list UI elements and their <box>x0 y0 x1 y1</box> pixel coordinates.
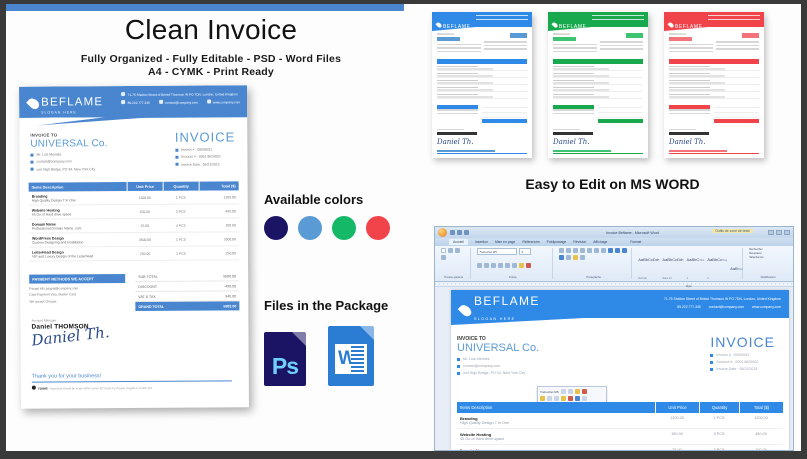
replace-button[interactable]: Remplacer <box>749 252 787 255</box>
phone-text: 89.222.777.345 <box>128 101 150 105</box>
swatch-red[interactable] <box>366 216 390 240</box>
color-variant-thumbnails: BEFLAMESLOGAN HERE Daniel Th. BEFLAMESLO… <box>432 12 764 158</box>
subtitle-line-1: Fully Organized - Fully Editable - PSD -… <box>6 53 416 65</box>
tab-references[interactable]: Références <box>522 240 539 244</box>
copy-icon <box>455 248 460 253</box>
justify-icon <box>559 255 564 260</box>
flame-drop-icon <box>667 21 674 28</box>
subtitle-line-2: A4 - CYMK - Print Ready <box>6 66 416 78</box>
word-file-icon[interactable]: W <box>328 326 374 386</box>
shading-icon <box>573 255 578 260</box>
tab-affichage[interactable]: Affichage <box>593 240 607 244</box>
location-pin-icon <box>122 92 126 96</box>
client-line: contact@company.com <box>30 160 107 164</box>
font-name-box[interactable]: Trebuchet MS <box>477 248 517 255</box>
table-row: BrandingHigh Quality Design 7 In One1200… <box>29 190 239 205</box>
terms-text: Payments should be made within seven (07… <box>50 386 153 391</box>
align-right-icon <box>622 248 627 253</box>
group-styles[interactable]: AaBbCcDd¶ Normal AaBbCcDd¶ Sans int. AaB… <box>635 248 743 279</box>
quick-access-toolbar[interactable] <box>450 230 469 235</box>
superscript-icon <box>512 263 517 268</box>
word-lines-icon <box>351 346 364 372</box>
doc-table-row: Website Hosting45 Go of Hard drive space… <box>457 429 783 445</box>
payment-line: Card Payment Visa, Master Card <box>29 292 125 297</box>
email-text: contact@company.com <box>165 101 198 105</box>
document-page[interactable]: BEFLAME SLOGAN HERE 71-75 Shelton Street… <box>451 290 789 450</box>
invoice-to-label: INVOICE TO <box>30 132 107 137</box>
window-controls[interactable] <box>768 230 790 235</box>
page-title: Clean Invoice <box>6 14 416 46</box>
close-icon <box>784 230 790 235</box>
increase-indent-icon <box>587 248 592 253</box>
contact-block: 71-75 Shelton Street of Bristol Thomson … <box>122 90 241 107</box>
invoice-meta-line: Account # : 0001 8629002 <box>175 155 235 159</box>
sort-icon <box>594 248 599 253</box>
font-color-icon <box>568 396 573 401</box>
bullet-icon <box>30 153 33 156</box>
table-header-row: Items Description Unit Price Quantity To… <box>29 181 239 191</box>
photoshop-label: Ps <box>264 353 306 380</box>
col-total: Total ($) <box>199 181 239 190</box>
terms-block: TERMS Payments should be made within sev… <box>32 384 232 390</box>
font-color-icon <box>526 263 531 268</box>
ribbon[interactable]: Presse-papiers Trebuchet MS 9 Police Par… <box>435 246 793 282</box>
available-colors-heading: Available colors <box>264 192 363 207</box>
files-in-package-heading: Files in the Package <box>264 298 388 313</box>
show-marks-icon <box>601 248 606 253</box>
font-shrink-icon <box>568 389 573 394</box>
right-panel: BEFLAMESLOGAN HERE Daniel Th. BEFLAMESLO… <box>424 4 801 451</box>
website-text: www.company.com <box>752 303 781 311</box>
easy-to-edit-heading: Easy to Edit on MS WORD <box>424 176 801 192</box>
font-size-box[interactable]: 9 <box>519 248 531 255</box>
table-row: WordPress DesignCustom Designing and Ins… <box>29 232 239 247</box>
thanks-block: Thank you for your business! TERMS Payme… <box>32 372 232 390</box>
align-icon <box>575 396 580 401</box>
page-fold-icon <box>292 332 306 346</box>
line-spacing-icon <box>566 255 571 260</box>
bold-icon <box>540 396 545 401</box>
tab-revision[interactable]: Révision <box>573 240 586 244</box>
paste-icon <box>441 248 446 253</box>
invoice-header-band: BEFLAME SLOGAN HERE 71-75 Shelton Street… <box>19 85 247 118</box>
bullet-icon <box>30 160 33 163</box>
subscript-icon <box>505 263 510 268</box>
format-painter-icon <box>441 255 446 260</box>
style-item: AaBbCTitre 1 <box>687 248 705 284</box>
undo-icon <box>457 230 462 235</box>
invoice-meta-block: INVOICE Invoice # : 00090011 Account # :… <box>175 129 236 166</box>
signature-role: Account Manager <box>31 318 109 322</box>
bullet-icon <box>457 372 460 375</box>
payment-methods-header: PAYMENT METHODS WE ACCEPT <box>29 274 125 284</box>
align-left-icon <box>608 248 613 253</box>
variant-thumbnail-green[interactable]: BEFLAMESLOGAN HERE Daniel Th. <box>548 12 648 158</box>
word-glyph: W <box>335 344 367 374</box>
tab-publipostage[interactable]: Publipostage <box>547 240 567 244</box>
doc-table-header-row: Items Description Unit Price Quantity To… <box>457 402 783 413</box>
tab-mise-en-page[interactable]: Mise en page <box>495 240 515 244</box>
address-text: 71-75 Shelton Street of Bristol Thomson … <box>128 92 238 97</box>
horizontal-ruler[interactable] <box>435 282 793 287</box>
variant-thumbnail-red[interactable]: BEFLAMESLOGAN HERE Daniel Th. <box>664 12 764 158</box>
style-item: AaBbCcDd¶ Sans int. <box>662 248 683 284</box>
phone-icon <box>122 100 126 104</box>
group-paragraph[interactable]: Paragraphe <box>556 248 632 279</box>
photoshop-file-icon[interactable]: Ps <box>264 332 306 386</box>
italic-icon <box>547 396 552 401</box>
align-center-icon <box>615 248 620 253</box>
doc-line-items-table: Items Description Unit Price Quantity To… <box>457 402 783 450</box>
brand-logo: BEFLAME SLOGAN HERE <box>29 92 103 114</box>
contact-placeholder <box>592 15 644 23</box>
flame-drop-icon <box>435 21 442 28</box>
ribbon-tabs[interactable]: Accueil Insertion Mise en page Référence… <box>435 238 793 246</box>
invoice-preview-main: BEFLAME SLOGAN HERE 71-75 Shelton Street… <box>19 85 249 408</box>
ms-word-window[interactable]: Invoice Beflame - Microsoft Word Outils … <box>434 226 794 451</box>
group-editing[interactable]: Rechercher Remplacer Sélectionner Modifi… <box>746 248 790 279</box>
invoice-meta-line: Invoice Date : 05/21/2015 <box>175 162 235 166</box>
col-unit-price: Unit Price <box>127 182 163 191</box>
client-name: UNIVERSAL Co. <box>30 138 107 149</box>
tab-insertion[interactable]: Insertion <box>475 240 488 244</box>
thanks-text: Thank you for your business! <box>32 372 232 382</box>
bullet-icon <box>175 163 178 166</box>
doc-table-row: Domain NameProfessional Domain Name .com… <box>457 445 783 450</box>
totals-block: SUB TOTAL5500.00 DISCOUNT-490.00 VAT & T… <box>135 271 239 311</box>
globe-icon <box>207 100 211 104</box>
highlight-icon <box>519 263 524 268</box>
header-notch <box>19 117 156 127</box>
strikethrough-icon <box>498 263 503 268</box>
mini-font-name[interactable]: Trebuchet MS <box>540 390 559 394</box>
terms-label: TERMS <box>38 387 48 391</box>
contact-placeholder <box>476 15 528 23</box>
underline-icon <box>554 396 559 401</box>
bold-icon <box>477 263 482 268</box>
style-item: AaBbCcTitre 2 <box>707 248 727 284</box>
client-line: Mr. Luis Mendes <box>30 152 107 156</box>
variant-thumbnail-blue[interactable]: BEFLAMESLOGAN HERE Daniel Th. <box>432 12 532 158</box>
table-row: Website Hosting45 Go of Hard drive space… <box>29 204 239 219</box>
word-title-bar: Invoice Beflame - Microsoft Word Outils … <box>435 227 793 238</box>
font-grow-icon <box>561 389 566 394</box>
file-type-icons: Ps W <box>264 326 374 386</box>
highlight-icon <box>575 389 580 394</box>
client-line: unit High Bridge, PO 34, New York City <box>31 167 108 171</box>
mail-icon <box>159 100 163 104</box>
invoice-meta-line: Invoice # : 00090011 <box>175 148 235 152</box>
swatch-navy[interactable] <box>264 216 288 240</box>
redo-icon <box>464 230 469 235</box>
col-quantity: Quantity <box>163 182 199 191</box>
minimize-icon <box>768 230 774 235</box>
bullet-icon <box>175 156 178 159</box>
table-row: LetterHead DesignVIP and Luxury Design o… <box>29 246 239 261</box>
bullet-icon <box>710 361 713 364</box>
bullet-icon <box>31 168 34 171</box>
line-items-table: Items Description Unit Price Quantity To… <box>29 181 239 261</box>
bullet-icon <box>710 354 713 357</box>
numbering-icon <box>566 248 571 253</box>
doc-invoice-meta: INVOICE Invoice # : 00090011 Account # :… <box>710 334 775 371</box>
doc-contact-block: 71-75 Shelton Street of Bristol Thomson … <box>664 295 781 311</box>
info-icon <box>32 386 36 390</box>
style-item: AaBTitre <box>730 257 743 275</box>
address-text: 71-75 Shelton Street of Bristol Thomson … <box>664 295 781 303</box>
group-font[interactable]: Trebuchet MS 9 Police <box>474 248 554 279</box>
phone-text: 89.222.777.345 <box>677 303 701 311</box>
underline-icon <box>491 263 496 268</box>
payment-methods-block: PAYMENT METHODS WE ACCEPT Paypal info.pa… <box>29 274 125 303</box>
bullet-icon <box>175 148 178 151</box>
highlight-icon <box>561 396 566 401</box>
flame-drop-icon <box>551 21 558 28</box>
doc-table-row: BrandingHigh Quality Design 7 In One1200… <box>457 413 783 429</box>
color-swatches <box>264 216 390 240</box>
doc-header-band: BEFLAME SLOGAN HERE 71-75 Shelton Street… <box>451 290 789 318</box>
page-fold-icon <box>360 326 374 340</box>
maximize-icon <box>776 230 782 235</box>
decrease-indent-icon <box>580 248 585 253</box>
select-button[interactable]: Sélectionner <box>749 256 787 259</box>
group-clipboard[interactable]: Presse-papiers <box>438 248 471 279</box>
tab-accueil[interactable]: Accueil <box>449 239 468 245</box>
swatch-green[interactable] <box>332 216 356 240</box>
brand-name: BEFLAME <box>41 96 103 108</box>
cut-icon <box>448 248 453 253</box>
invoice-heading: INVOICE <box>175 129 236 144</box>
payment-line: Paypal info.paypal@company.com <box>29 286 125 291</box>
signature-block: Account Manager Daniel THOMSON Daniel Th… <box>31 318 110 349</box>
office-orb-icon[interactable] <box>438 228 447 237</box>
brand-slogan: SLOGAN HERE <box>41 110 103 114</box>
find-button[interactable]: Rechercher <box>749 248 787 251</box>
flame-drop-icon <box>26 96 41 111</box>
email-text: contact@company.com <box>709 303 744 311</box>
doc-brand-logo: BEFLAME SLOGAN HERE <box>461 295 540 325</box>
grand-total-row: GRAND TOTAL5982.00 <box>135 301 239 311</box>
invoice-to-block: INVOICE TO UNIVERSAL Co. Mr. Luis Mendes… <box>30 132 107 171</box>
save-icon <box>450 230 455 235</box>
italic-icon <box>484 263 489 268</box>
payment-line: We accept Cheque <box>29 299 125 304</box>
swatch-blue[interactable] <box>298 216 322 240</box>
font-color-icon <box>582 389 587 394</box>
table-row: Domain NameProfessional Domain Name .com… <box>29 218 239 233</box>
contact-placeholder <box>708 15 760 23</box>
poster-canvas: Clean Invoice Fully Organized - Fully Ed… <box>6 4 801 451</box>
style-item: AaBbCcDd¶ Normal <box>638 248 659 284</box>
bullet-icon <box>457 365 460 368</box>
bullet-icon <box>457 358 460 361</box>
total-row: DISCOUNT-490.00 <box>135 281 239 292</box>
doc-invoice-to: INVOICE TO UNIVERSAL Co. Mr. Luis Mendes… <box>457 336 539 375</box>
multilevel-icon <box>573 248 578 253</box>
website-text: www.company.com <box>213 100 240 104</box>
bullets-icon <box>582 396 587 401</box>
bullet-icon <box>710 368 713 371</box>
total-row: VAT & TAX940.00 <box>135 291 239 302</box>
bullets-icon <box>559 248 564 253</box>
contextual-tab-label: Outils de zone de texte <box>712 229 753 233</box>
total-row: SUB TOTAL5500.00 <box>135 271 239 282</box>
tab-format[interactable]: Format <box>630 240 641 244</box>
flame-drop-icon <box>458 302 474 318</box>
borders-icon <box>580 255 585 260</box>
